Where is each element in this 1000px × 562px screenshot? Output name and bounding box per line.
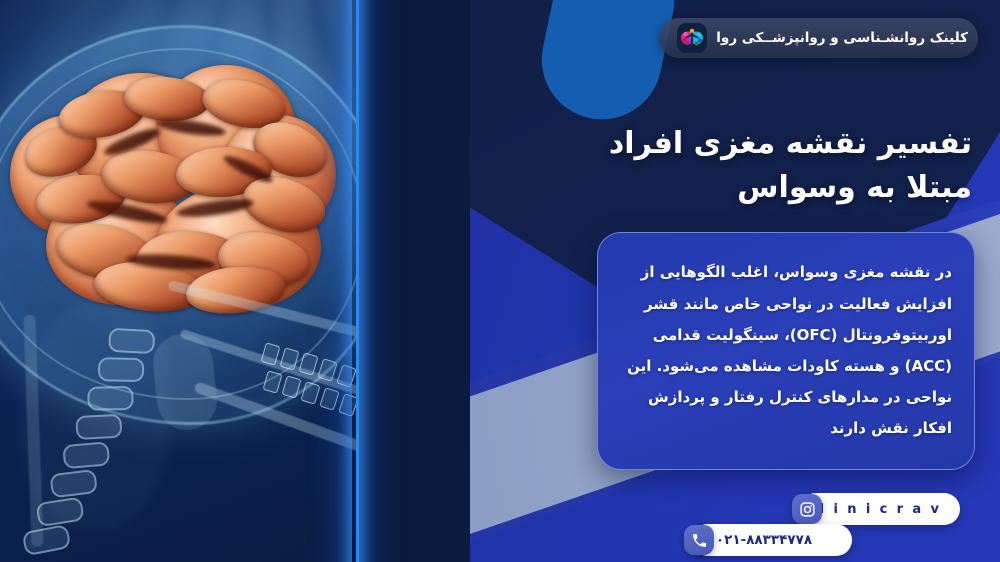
description-card: در نقشه مغزی وسواس، اغلب الگوهایی از افز… (597, 232, 975, 470)
instagram-handle: c l i n i c r a v (803, 502, 942, 517)
title-line-1: تفسیر نقشه مغزی افراد (552, 122, 972, 166)
title-line-2: مبتلا به وسواس (552, 166, 972, 210)
brand-name: کلینک روانشـناسی و روانپزشــکی روا (716, 30, 968, 46)
divider-curve-1 (358, 0, 470, 562)
instagram-pill[interactable]: c l i n i c r a v (800, 493, 960, 525)
poster-canvas: کلینک روانشـناسی و روانپزشــکی روا تفسیر… (0, 0, 1000, 562)
phone-pill[interactable]: ۰۲۱-۸۸۳۳۴۷۷۸ (692, 524, 852, 556)
instagram-icon[interactable] (792, 494, 822, 524)
neon-accent-line (352, 0, 359, 562)
brain-person-logo-icon (677, 23, 707, 53)
phone-icon[interactable] (684, 525, 714, 555)
brand-badge[interactable]: کلینک روانشـناسی و روانپزشــکی روا (659, 18, 978, 58)
phone-number: ۰۲۱-۸۸۳۳۴۷۷۸ (716, 532, 812, 548)
xray-head-image (0, 0, 470, 562)
page-title: تفسیر نقشه مغزی افراد مبتلا به وسواس (552, 122, 972, 209)
description-text: در نقشه مغزی وسواس، اغلب الگوهایی از افز… (620, 257, 952, 444)
